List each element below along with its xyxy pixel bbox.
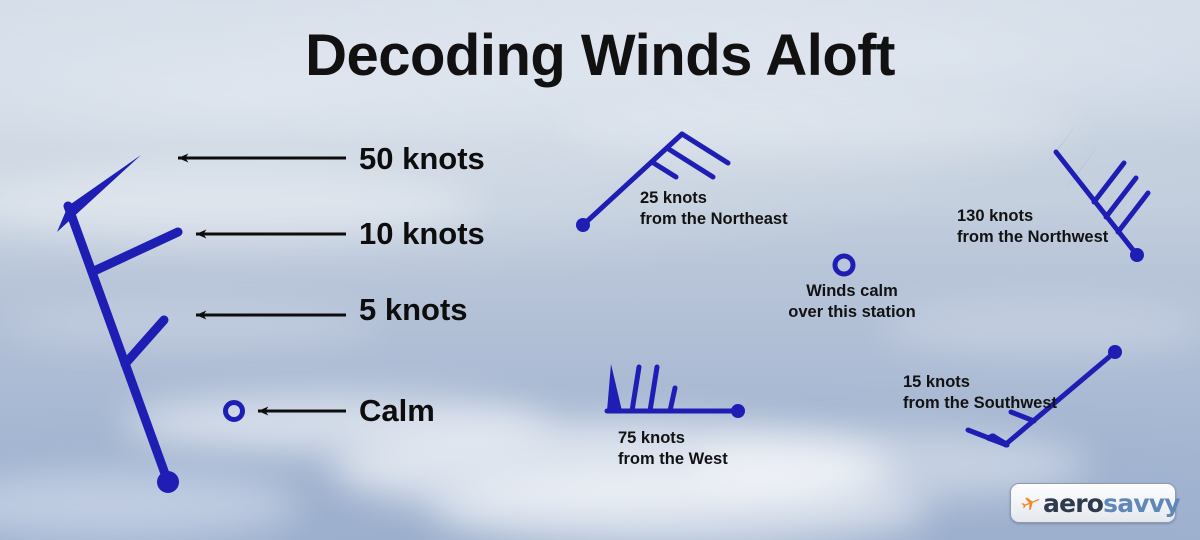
legend-pennant-50kt: [57, 155, 141, 232]
w-half-barb: [670, 388, 675, 411]
legend-full-barb-10kt: [92, 232, 178, 272]
nw-station-dot: [1130, 248, 1144, 262]
station-calm: [835, 256, 853, 274]
ne-full-barb-1: [682, 134, 728, 163]
ne-station-dot: [576, 218, 590, 232]
station-barb-west: [607, 364, 745, 418]
airplane-icon: [1020, 493, 1042, 513]
calm-speed-text: Winds calm: [806, 282, 898, 300]
legend-label-5kt: 5 knots: [359, 292, 468, 328]
station-annotation-west: 75 knots from the West: [618, 428, 728, 471]
nw-pennant-1: [1047, 118, 1081, 164]
ne-direction-text: from the Northeast: [640, 209, 788, 230]
legend-half-barb-5kt: [125, 320, 164, 364]
infographic-canvas: Decoding Winds Aloft: [0, 0, 1200, 540]
legend-arrows: [178, 158, 346, 411]
logo-text-savvy: savvy: [1103, 489, 1180, 518]
legend-label-10kt: 10 knots: [359, 216, 485, 252]
w-full-barb-1: [632, 367, 639, 411]
legend-station-dot: [157, 471, 179, 493]
w-station-dot: [731, 404, 745, 418]
aerosavvy-logo[interactable]: aero savvy: [1010, 483, 1176, 523]
sw-direction-text: from the Southwest: [903, 393, 1057, 414]
ne-speed-text: 25 knots: [640, 189, 707, 207]
logo-text-aero: aero: [1043, 489, 1103, 518]
ne-half-barb: [652, 162, 676, 177]
nw-direction-text: from the Northwest: [957, 227, 1108, 248]
station-annotation-northeast: 25 knots from the Northeast: [640, 188, 788, 231]
nw-speed-text: 130 knots: [957, 207, 1033, 225]
calm-station-circle: [835, 256, 853, 274]
station-annotation-northwest: 130 knots from the Northwest: [957, 206, 1108, 249]
sw-speed-text: 15 knots: [903, 373, 970, 391]
wind-barb-diagram: [0, 0, 1200, 540]
legend-label-calm: Calm: [359, 393, 435, 429]
ne-full-barb-2: [667, 148, 713, 177]
w-full-barb-2: [650, 367, 657, 411]
w-speed-text: 75 knots: [618, 429, 685, 447]
legend-calm-circle: [226, 403, 243, 420]
sw-station-dot: [1108, 345, 1122, 359]
w-pennant-1: [607, 364, 622, 412]
station-annotation-calm: Winds calm over this station: [780, 281, 924, 324]
w-direction-text: from the West: [618, 449, 728, 470]
nw-pennant-2: [1066, 143, 1100, 189]
legend-label-50kt: 50 knots: [359, 141, 485, 177]
station-annotation-southwest: 15 knots from the Southwest: [903, 372, 1057, 415]
sw-full-barb-long: [968, 430, 1007, 445]
legend-wind-barb: [57, 155, 243, 493]
calm-direction-text: over this station: [780, 302, 924, 323]
